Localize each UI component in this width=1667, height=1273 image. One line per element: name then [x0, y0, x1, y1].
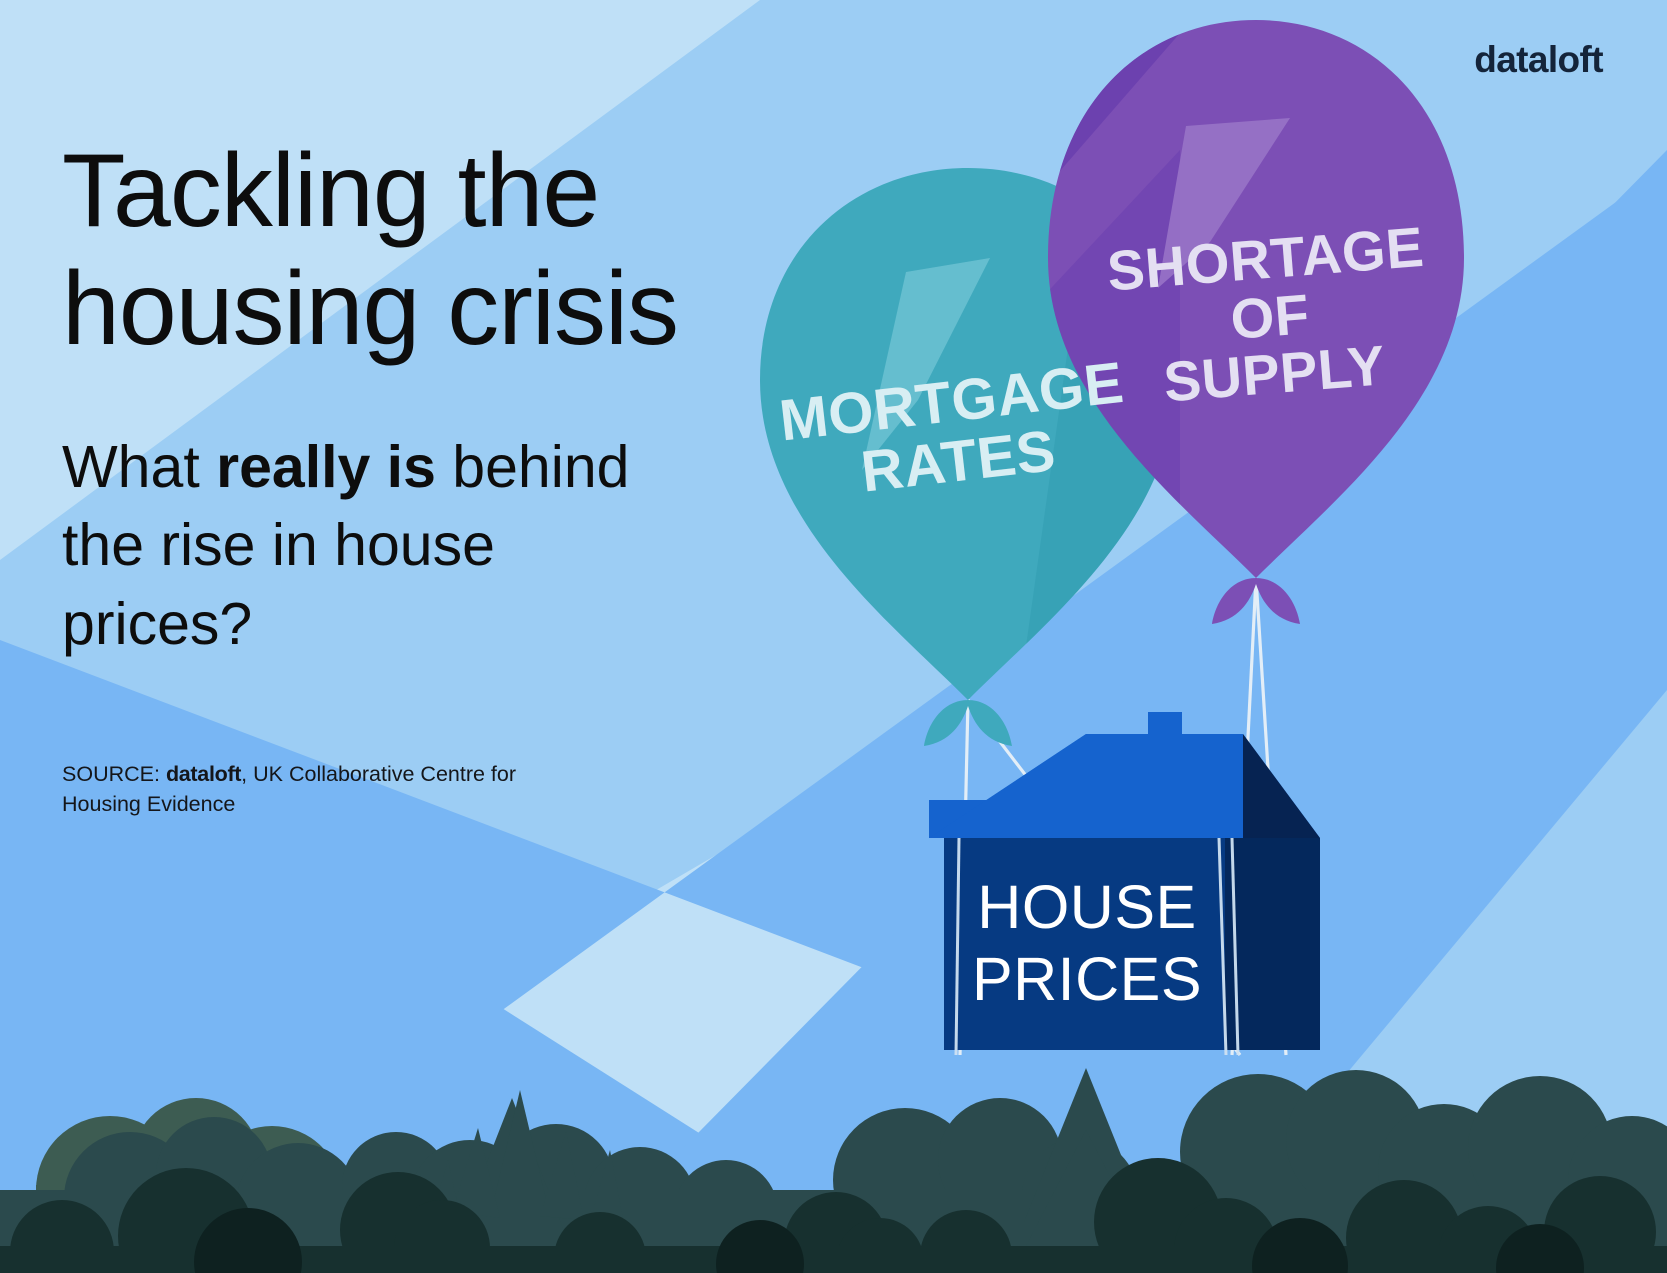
subtitle: What really is behind the rise in house …	[62, 428, 682, 663]
source-note: SOURCE: dataloft, UK Collaborative Centr…	[62, 760, 582, 819]
balloon-label-shortage-of-supply: SHORTAGE OF SUPPLY	[1069, 215, 1471, 418]
house-label: HOUSE PRICES	[952, 872, 1222, 1016]
dataloft-logo: dataloft	[1474, 39, 1603, 81]
page-title: Tackling the housing crisis	[62, 132, 822, 369]
infographic-poster: dataloft Tackling the housing crisis Wha…	[0, 0, 1667, 1273]
subtitle-part-before: What	[62, 434, 216, 500]
source-prefix: SOURCE:	[62, 762, 166, 786]
subtitle-emphasis: really is	[216, 434, 436, 500]
source-brand: dataloft	[166, 762, 241, 786]
